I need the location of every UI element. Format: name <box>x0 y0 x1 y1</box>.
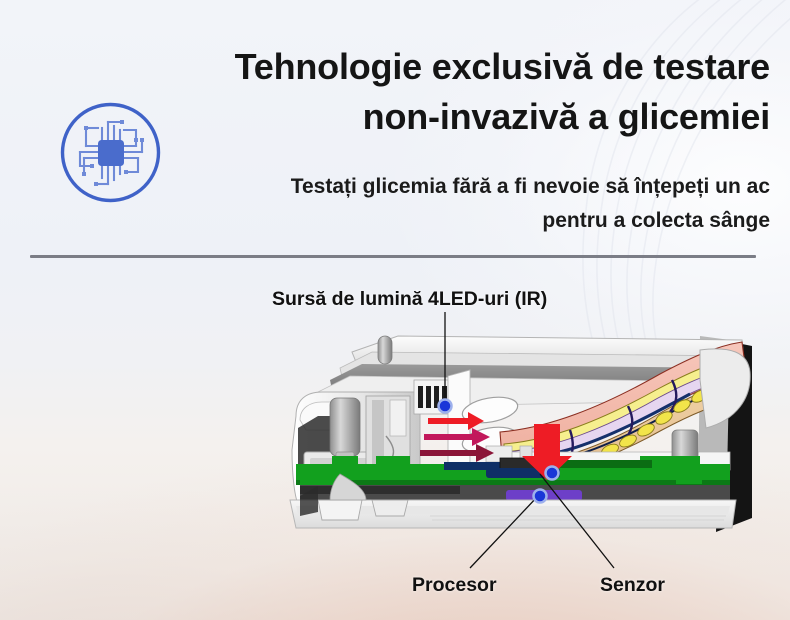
marker-sensor <box>546 467 559 480</box>
marker-led <box>439 400 452 413</box>
callout-label-led: Sursă de lumină 4LED-uri (IR) <box>272 288 547 311</box>
promo-banner: Tehnologie exclusivă de testare non-inva… <box>0 0 790 620</box>
callout-label-sensor: Senzor <box>600 574 665 597</box>
callout-label-processor: Procesor <box>412 574 497 597</box>
marker-processor <box>534 490 547 503</box>
